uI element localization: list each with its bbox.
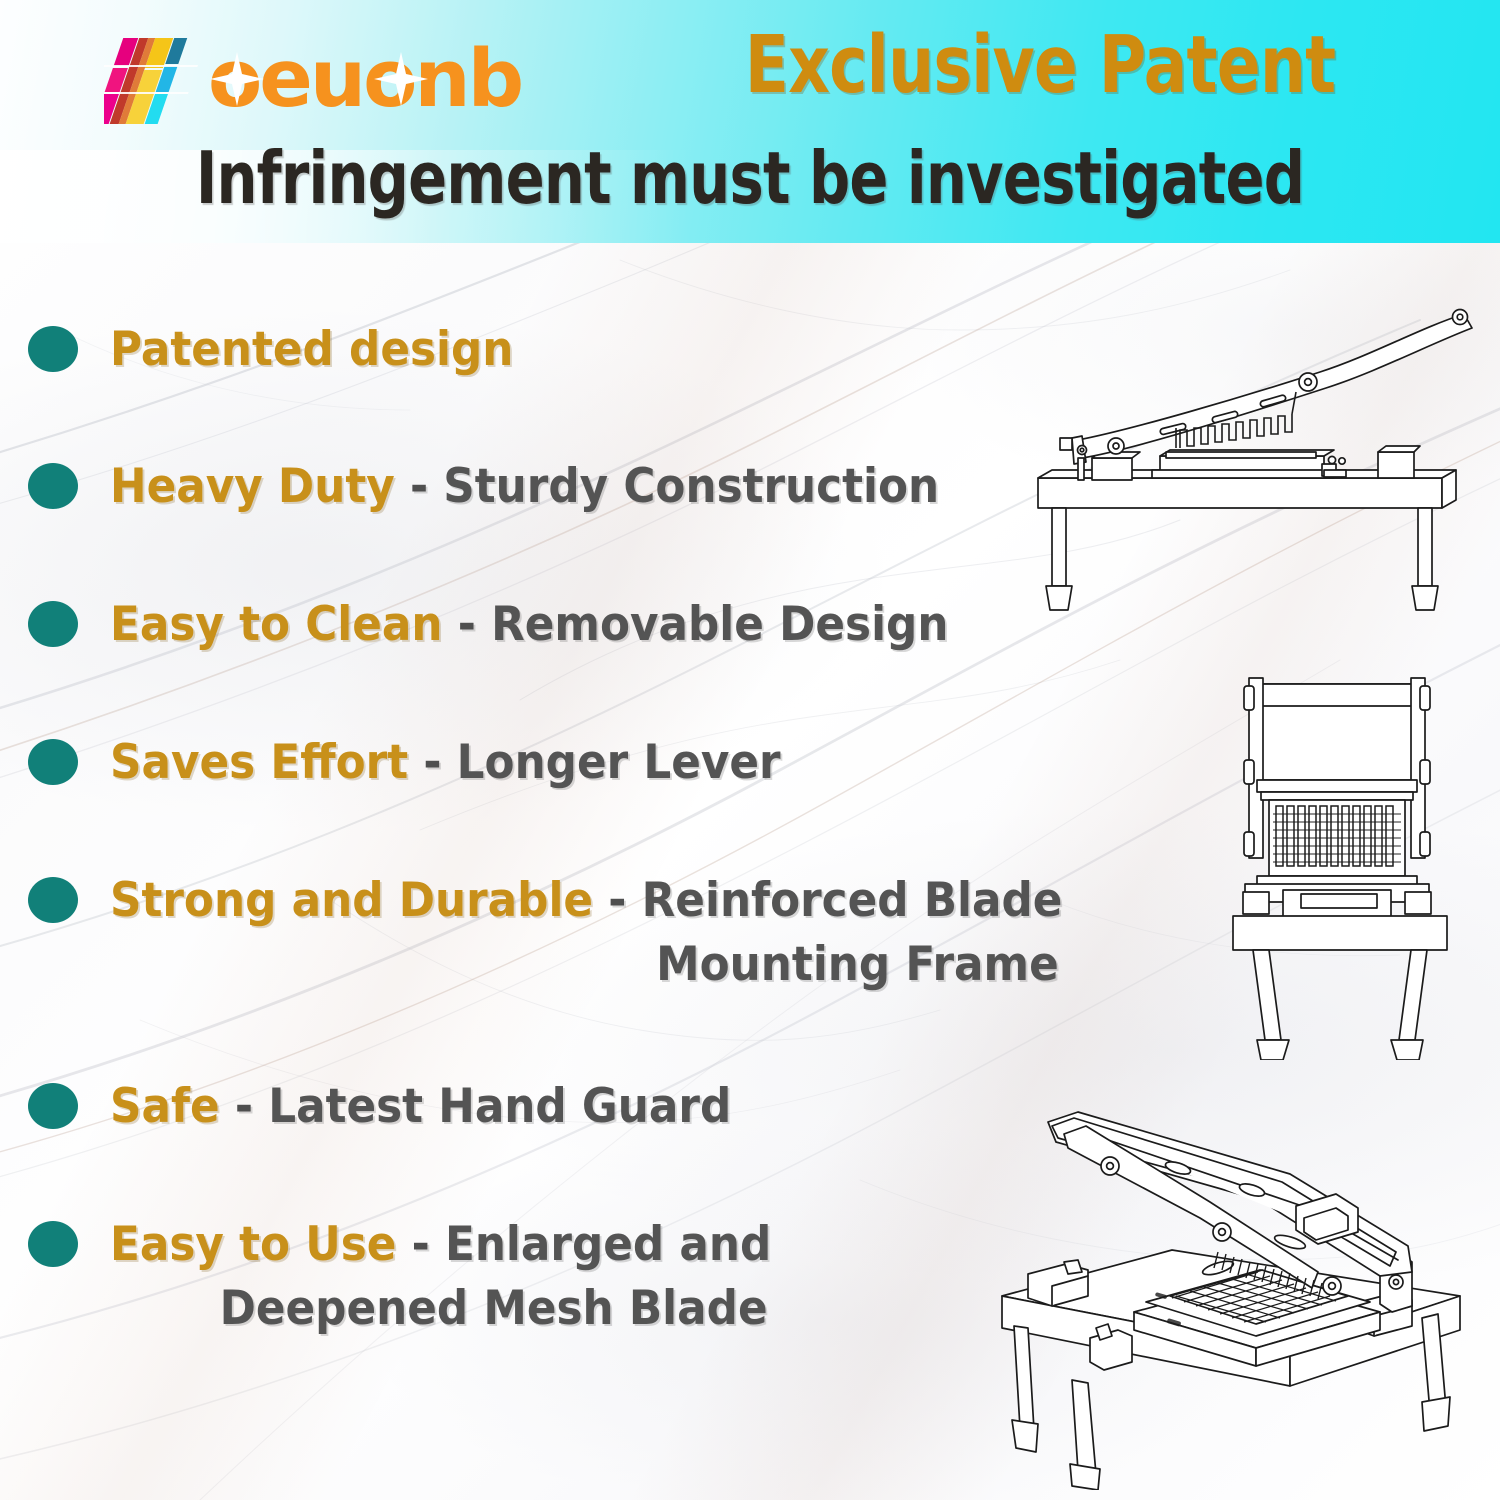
header-banner: oeuonb Exclusive Patent Infringement mus… <box>0 0 1500 243</box>
logo-star-icon-1 <box>208 50 266 108</box>
bullet-dot-icon <box>28 1083 78 1129</box>
feature-body: Sturdy Construction <box>443 459 939 514</box>
feature-text: Patented design <box>110 318 513 382</box>
infographic-page: oeuonb Exclusive Patent Infringement mus… <box>0 0 1500 1500</box>
header-subtitle: Infringement must be investigated <box>150 142 1350 214</box>
feature-highlight: Safe <box>110 1079 220 1134</box>
feature-highlight: Patented design <box>110 322 513 377</box>
list-item: Strong and Durable - Reinforced Blade Mo… <box>28 869 1134 997</box>
list-item: Patented design <box>28 318 544 382</box>
bullet-dot-icon <box>28 601 78 647</box>
product-image-perspective-view <box>960 1090 1490 1490</box>
feature-text: Heavy Duty - Sturdy Construction <box>110 455 939 519</box>
list-item: Easy to Use - Enlarged and Deepened Mesh… <box>28 1213 821 1341</box>
bullet-dot-icon <box>28 1221 78 1267</box>
logo-m-stripes-icon <box>104 30 210 130</box>
bone-cutter-side-view-icon <box>1020 280 1480 620</box>
product-image-front-view <box>1195 660 1485 1060</box>
feature-highlight: Heavy Duty <box>110 459 395 514</box>
feature-body: Latest Hand Guard <box>268 1079 731 1134</box>
feature-separator: - <box>395 459 444 514</box>
logo-star-icon-2 <box>372 50 430 108</box>
list-item: Heavy Duty - Sturdy Construction <box>28 455 1002 519</box>
feature-body: Removable Design <box>491 597 948 652</box>
feature-separator: - <box>408 735 457 790</box>
feature-separator: - <box>396 1217 445 1272</box>
feature-separator: - <box>593 873 642 928</box>
feature-body-line2: Mounting Frame <box>110 933 1062 997</box>
bone-cutter-perspective-view-icon <box>960 1090 1490 1490</box>
feature-highlight: Saves Effort <box>110 735 408 790</box>
feature-body-line2: Deepened Mesh Blade <box>110 1277 771 1341</box>
product-image-side-view <box>1020 280 1480 620</box>
bullet-dot-icon <box>28 877 78 923</box>
logo-m-mark-icon <box>104 30 210 130</box>
feature-text: Easy to Clean - Removable Design <box>110 593 948 657</box>
list-item: Easy to Clean - Removable Design <box>28 593 1012 657</box>
feature-text: Saves Effort - Longer Lever <box>110 731 781 795</box>
feature-text: Easy to Use - Enlarged and Deepened Mesh… <box>110 1213 771 1341</box>
feature-body: Reinforced Blade <box>642 873 1063 928</box>
list-item: Saves Effort - Longer Lever <box>28 731 831 795</box>
list-item: Safe - Latest Hand Guard <box>28 1075 778 1139</box>
feature-separator: - <box>220 1079 269 1134</box>
bullet-dot-icon <box>28 326 78 372</box>
feature-highlight: Easy to Use <box>110 1217 396 1272</box>
brand-logo: oeuonb <box>104 28 521 132</box>
bone-cutter-front-view-icon <box>1195 660 1485 1060</box>
feature-text: Safe - Latest Hand Guard <box>110 1075 731 1139</box>
feature-highlight: Easy to Clean <box>110 597 443 652</box>
feature-highlight: Strong and Durable <box>110 873 593 928</box>
feature-separator: - <box>443 597 492 652</box>
feature-body: Longer Lever <box>457 735 781 790</box>
header-title: Exclusive Patent <box>728 26 1351 105</box>
feature-list: Patented design Heavy Duty - Sturdy Cons… <box>0 243 1030 1500</box>
feature-body: Enlarged and <box>445 1217 771 1272</box>
feature-text: Strong and Durable - Reinforced Blade Mo… <box>110 869 1062 997</box>
bullet-dot-icon <box>28 739 78 785</box>
bullet-dot-icon <box>28 463 78 509</box>
